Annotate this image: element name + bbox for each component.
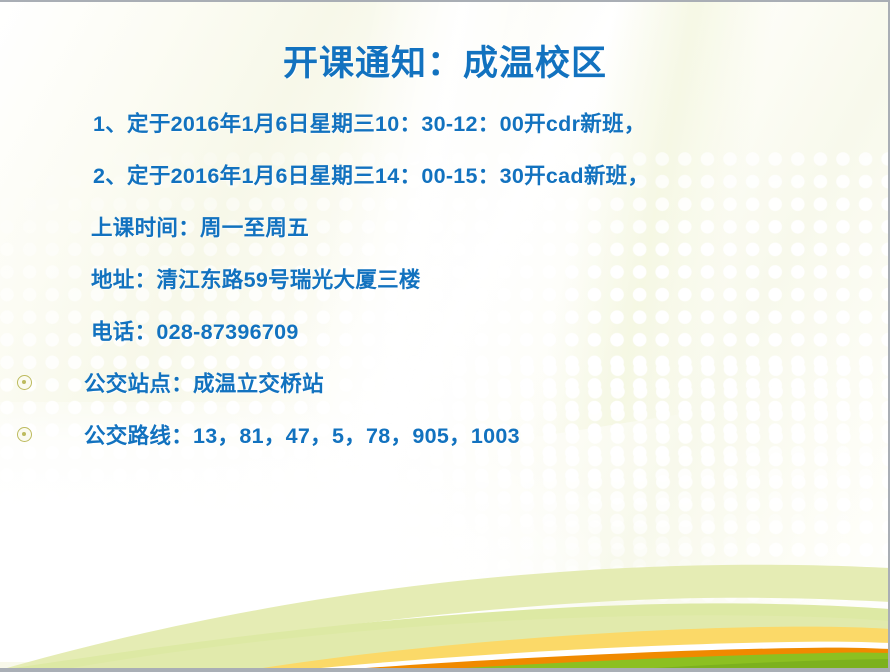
page-title: 开课通知：成温校区: [0, 2, 890, 86]
announcement-list: 1、定于2016年1月6日星期三10：30-12：00开cdr新班， 2、定于2…: [0, 96, 890, 460]
slide-canvas: 开课通知：成温校区 1、定于2016年1月6日星期三10：30-12：00开cd…: [0, 0, 890, 672]
list-item-label: 电话：028-87396709: [48, 315, 299, 346]
list-item-course-cad: 2、定于2016年1月6日星期三14：00-15：30开cad新班，: [0, 148, 890, 200]
circle-dot-icon: [17, 375, 32, 390]
list-item-label: 地址：清江东路59号瑞光大厦三楼: [48, 263, 421, 294]
list-item-bus-stop: 公交站点：成温立交桥站: [0, 356, 890, 408]
list-item-class-time: 上课时间：周一至周五: [0, 200, 890, 252]
list-item-label: 上课时间：周一至周五: [48, 211, 309, 242]
bullet-slot: [0, 375, 48, 390]
list-item-course-cdr: 1、定于2016年1月6日星期三10：30-12：00开cdr新班，: [0, 96, 890, 148]
list-item-label: 2、定于2016年1月6日星期三14：00-15：30开cad新班，: [48, 159, 649, 190]
list-item-address: 地址：清江东路59号瑞光大厦三楼: [0, 252, 890, 304]
list-item-label: 1、定于2016年1月6日星期三10：30-12：00开cdr新班，: [48, 107, 646, 138]
list-item-label: 公交站点：成温立交桥站: [48, 367, 324, 398]
list-item-bus-routes: 公交路线：13，81，47，5，78，905，1003: [0, 408, 890, 460]
list-item-phone: 电话：028-87396709: [0, 304, 890, 356]
bullet-slot: [0, 427, 48, 442]
bottom-border-rule: [0, 668, 890, 670]
circle-dot-icon: [17, 427, 32, 442]
list-item-label: 公交路线：13，81，47，5，78，905，1003: [48, 419, 520, 450]
slide-content: 开课通知：成温校区 1、定于2016年1月6日星期三10：30-12：00开cd…: [0, 2, 890, 460]
